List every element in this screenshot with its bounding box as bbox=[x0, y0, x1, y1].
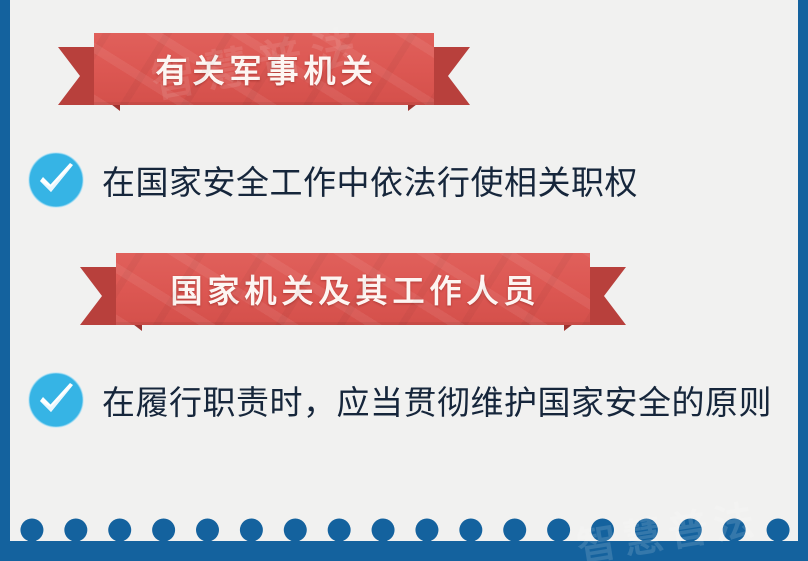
infographic-canvas: 有关军事机关 在国家安全工作中依法行使相关职权 国家机关及其工作人员 bbox=[0, 0, 808, 561]
bullet-text: 在履行职责时，应当贯彻维护国家安全的原则 bbox=[102, 376, 772, 424]
bullet-row-2: 在履行职责时，应当贯彻维护国家安全的原则 bbox=[26, 370, 772, 430]
footer-pin-band: 智慧普法 bbox=[10, 499, 800, 561]
ribbon-label: 有关军事机关 bbox=[150, 46, 377, 92]
check-circle-icon bbox=[26, 150, 86, 210]
ribbon-state-organs: 国家机关及其工作人员 bbox=[80, 253, 626, 339]
bullet-row-1: 在国家安全工作中依法行使相关职权 bbox=[26, 150, 638, 210]
pin-row-graphic bbox=[10, 499, 800, 561]
check-circle-icon bbox=[26, 370, 86, 430]
bullet-text: 在国家安全工作中依法行使相关职权 bbox=[102, 156, 638, 204]
ribbon-military-organs: 有关军事机关 bbox=[58, 33, 470, 119]
ribbon-body: 国家机关及其工作人员 bbox=[116, 253, 590, 325]
ribbon-body: 有关军事机关 bbox=[94, 33, 434, 105]
ribbon-label: 国家机关及其工作人员 bbox=[165, 266, 540, 312]
right-blue-rail bbox=[798, 0, 808, 561]
left-blue-rail bbox=[0, 0, 10, 561]
